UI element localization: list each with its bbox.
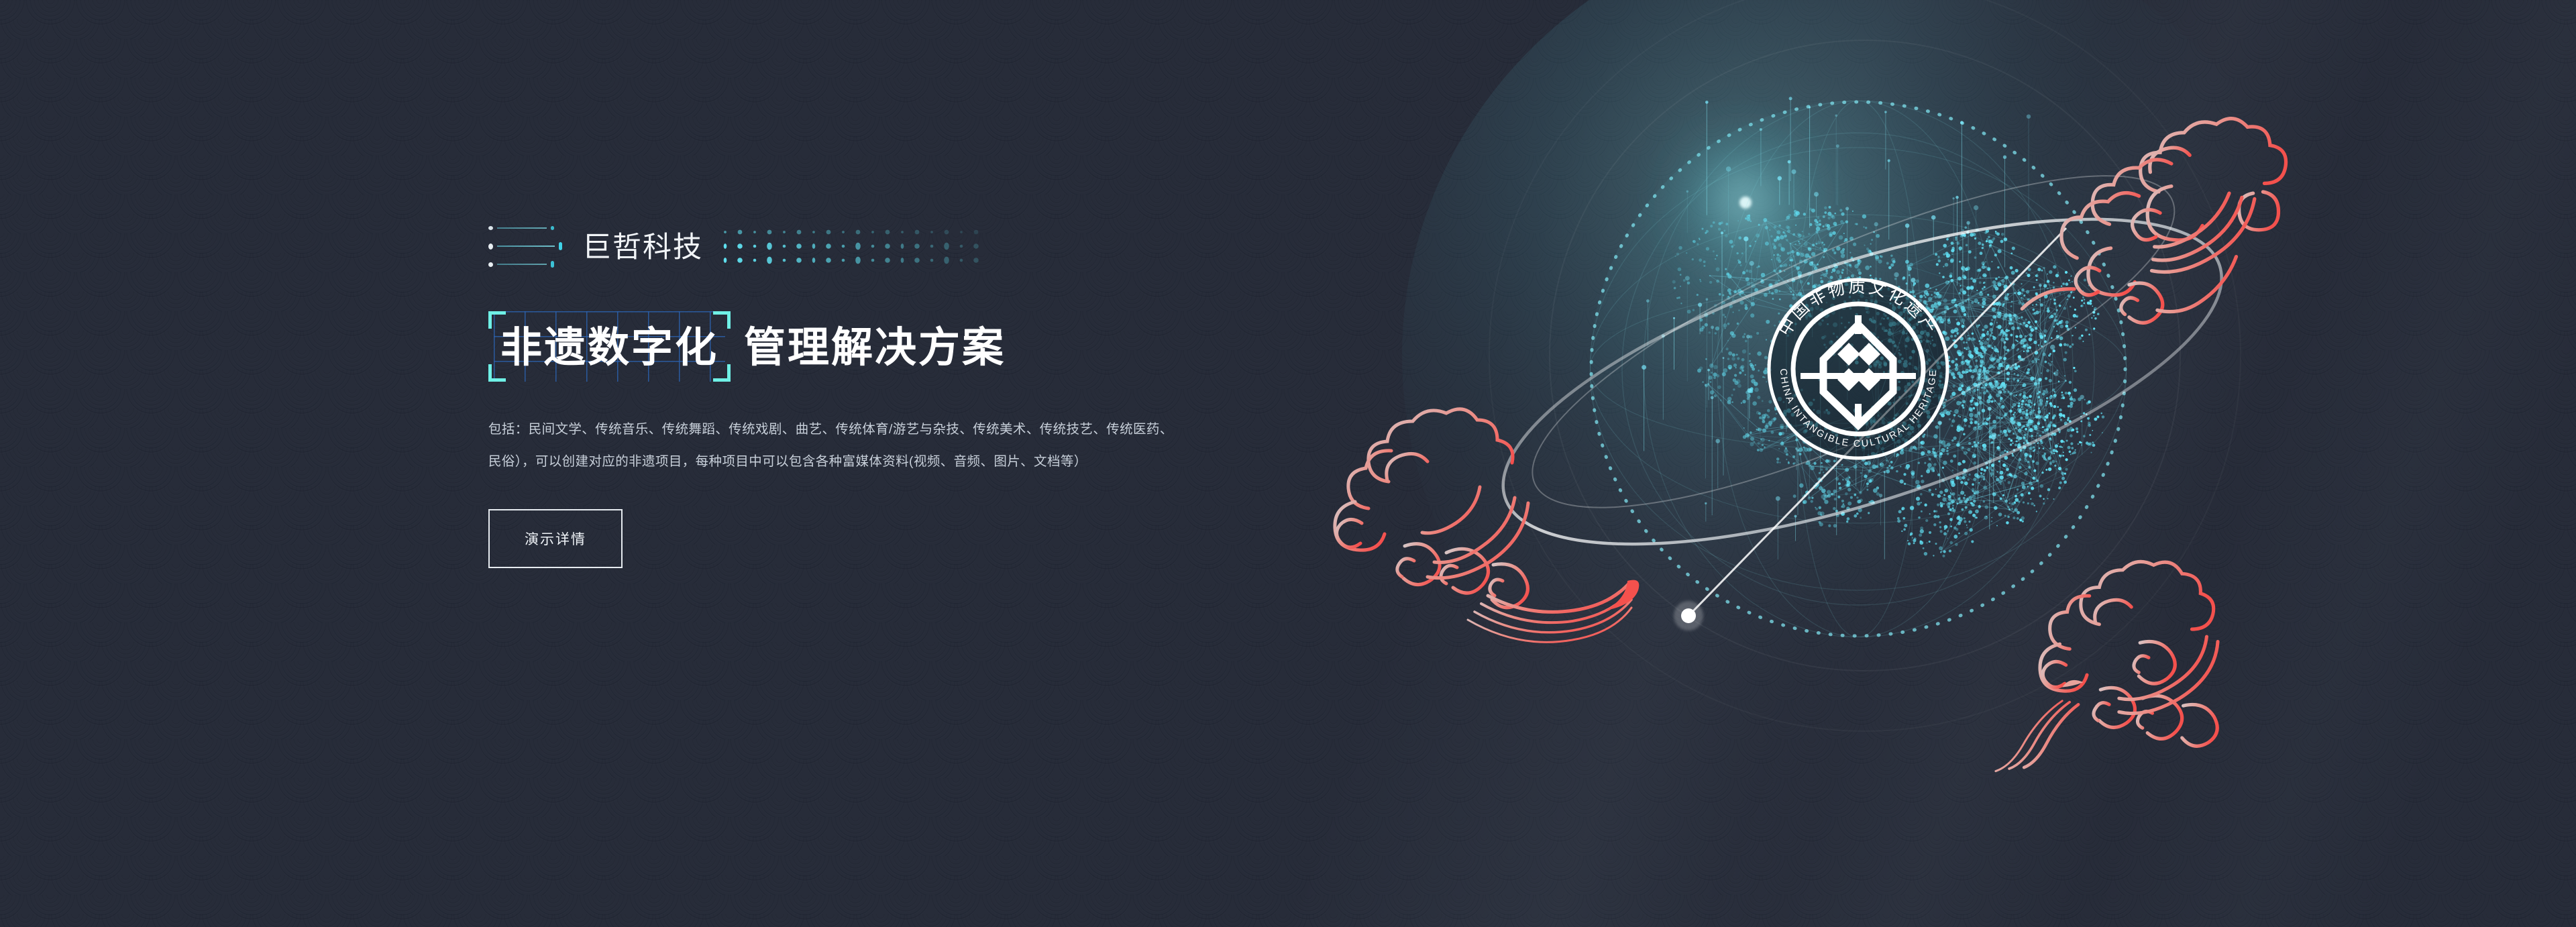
hero-content: 巨哲科技 非遗数字化 管理解决方案 包括：民间文学、传统音乐、传统舞蹈、传统戏剧… xyxy=(488,221,1240,568)
fading-dot-grid xyxy=(720,225,989,270)
demo-detail-button[interactable]: 演示详情 xyxy=(488,509,623,568)
deco-dot-left xyxy=(488,226,493,230)
deco-dot-right xyxy=(551,261,554,268)
deco-dot-right xyxy=(551,226,554,230)
deco-dot-right xyxy=(559,242,562,250)
description-text: 包括：民间文学、传统音乐、传统舞蹈、传统戏剧、曲艺、传统体育/游艺与杂技、传统美… xyxy=(488,414,1179,478)
headline-emphasis: 非遗数字化 xyxy=(500,325,718,371)
brand-row: 巨哲科技 xyxy=(488,221,1240,274)
triple-line-decoration xyxy=(488,223,572,272)
page-title: 非遗数字化 管理解决方案 xyxy=(488,311,1240,382)
seigaiha-wave-pattern xyxy=(0,0,2576,927)
deco-bar xyxy=(497,264,547,265)
deco-dot-left xyxy=(488,262,493,267)
corner-bracket-grid-frame: 非遗数字化 xyxy=(488,311,731,382)
headline-rest: 管理解决方案 xyxy=(744,326,1006,382)
deco-bar xyxy=(497,227,547,229)
brand-name: 巨哲科技 xyxy=(582,233,703,262)
hero-banner: 中国非物质文化遗产 CHINA INTANGIBLE CULTURAL HERI… xyxy=(0,0,2576,927)
deco-bar xyxy=(497,246,555,247)
deco-dot-left xyxy=(488,243,493,250)
